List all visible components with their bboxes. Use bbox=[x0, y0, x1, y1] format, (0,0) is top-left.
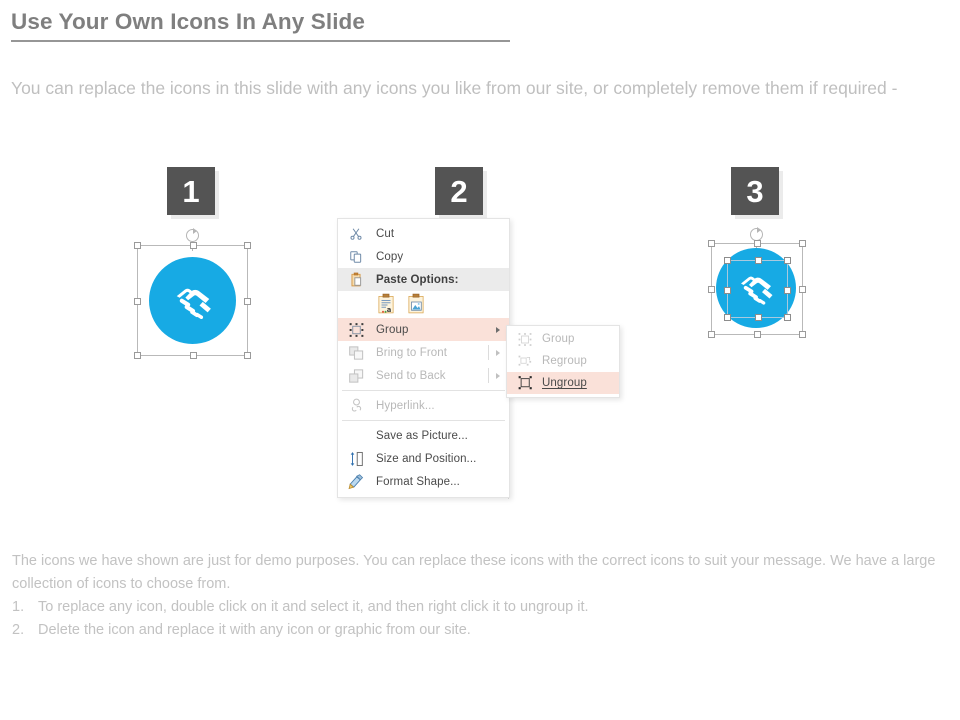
size-and-position-icon bbox=[346, 450, 366, 468]
menu-item-group[interactable]: Group bbox=[338, 318, 509, 341]
footer-text-block: The icons we have shown are just for dem… bbox=[12, 550, 947, 642]
ungroup-icon bbox=[515, 374, 535, 392]
menu-separator bbox=[342, 390, 505, 391]
menu-item-bring-to-front[interactable]: Bring to Front bbox=[338, 341, 509, 364]
step-badge-3: 3 bbox=[731, 167, 779, 215]
menu-divider-vertical bbox=[488, 345, 489, 360]
scissors-icon bbox=[346, 225, 366, 243]
regroup-icon bbox=[515, 352, 535, 370]
selection-handle-bottom-center[interactable] bbox=[754, 331, 761, 338]
step-badge-3-label: 3 bbox=[746, 176, 763, 207]
selection-handle-top-right[interactable] bbox=[799, 240, 806, 247]
selection-handle-middle-left[interactable] bbox=[708, 286, 715, 293]
menu-item-size-and-position-label: Size and Position... bbox=[376, 453, 476, 465]
menu-item-format-shape[interactable]: Format Shape... bbox=[338, 470, 509, 493]
chevron-right-icon bbox=[496, 373, 500, 379]
menu-item-paste-options: Paste Options: bbox=[338, 268, 509, 291]
hyperlink-icon bbox=[346, 397, 366, 415]
title-underline bbox=[11, 40, 510, 42]
selection-frame-icon-3-outer bbox=[711, 243, 803, 335]
footer-list-item-2-text: Delete the icon and replace it with any … bbox=[38, 619, 471, 642]
selection-handle-top-left[interactable] bbox=[134, 242, 141, 249]
copy-icon bbox=[346, 248, 366, 266]
page-title: Use Your Own Icons In Any Slide bbox=[11, 9, 365, 35]
submenu-item-group[interactable]: Group bbox=[507, 328, 619, 350]
submenu-item-group-label: Group bbox=[542, 333, 574, 345]
group-icon bbox=[515, 330, 535, 348]
selection-handle-top-center[interactable] bbox=[190, 242, 197, 249]
footer-list-item-1-number: 1. bbox=[12, 596, 38, 619]
selection-handle-top-left[interactable] bbox=[708, 240, 715, 247]
selection-handle-middle-left[interactable] bbox=[134, 298, 141, 305]
menu-item-save-as-picture[interactable]: Save as Picture... bbox=[338, 424, 509, 447]
slide-canvas: Use Your Own Icons In Any Slide You can … bbox=[0, 0, 960, 720]
rotation-handle-arrow-icon bbox=[193, 228, 197, 234]
step-badge-2: 2 bbox=[435, 167, 483, 215]
menu-item-copy[interactable]: Copy bbox=[338, 245, 509, 268]
submenu-item-ungroup[interactable]: Ungroup bbox=[507, 372, 619, 394]
selection-handle-bottom-left[interactable] bbox=[708, 331, 715, 338]
selection-handle-top-right[interactable] bbox=[244, 242, 251, 249]
step-badge-2-label: 2 bbox=[450, 176, 467, 207]
selection-handle-bottom-right[interactable] bbox=[799, 331, 806, 338]
menu-item-send-to-back-label: Send to Back bbox=[376, 370, 446, 382]
submenu-item-ungroup-label: Ungroup bbox=[542, 377, 587, 389]
chevron-right-icon bbox=[496, 350, 500, 356]
menu-item-cut-label: Cut bbox=[376, 228, 394, 240]
menu-item-group-label: Group bbox=[376, 324, 408, 336]
footer-list-item-1: 1. To replace any icon, double click on … bbox=[12, 596, 947, 619]
menu-item-hyperlink[interactable]: Hyperlink... bbox=[338, 394, 509, 417]
menu-item-copy-label: Copy bbox=[376, 251, 403, 263]
svg-text:a: a bbox=[387, 305, 392, 313]
step-badge-1-label: 1 bbox=[182, 176, 199, 207]
menu-item-paste-options-label: Paste Options: bbox=[376, 274, 459, 286]
paste-icon bbox=[346, 271, 366, 289]
footer-list-item-1-text: To replace any icon, double click on it … bbox=[38, 596, 589, 619]
format-shape-icon bbox=[346, 473, 366, 491]
selection-handle-bottom-right[interactable] bbox=[244, 352, 251, 359]
footer-list-item-2-number: 2. bbox=[12, 619, 38, 642]
slide-subtitle: You can replace the icons in this slide … bbox=[11, 73, 955, 103]
step-badge-1: 1 bbox=[167, 167, 215, 215]
selection-handle-bottom-left[interactable] bbox=[134, 352, 141, 359]
selection-handle-middle-right[interactable] bbox=[799, 286, 806, 293]
menu-item-format-shape-label: Format Shape... bbox=[376, 476, 460, 488]
send-to-back-icon bbox=[346, 367, 366, 385]
menu-item-bring-to-front-label: Bring to Front bbox=[376, 347, 447, 359]
menu-item-send-to-back[interactable]: Send to Back bbox=[338, 364, 509, 387]
submenu-item-regroup-label: Regroup bbox=[542, 355, 587, 367]
submenu-item-regroup[interactable]: Regroup bbox=[507, 350, 619, 372]
paste-options-row[interactable]: a bbox=[338, 291, 509, 318]
paste-picture-icon[interactable] bbox=[406, 293, 426, 317]
menu-item-cut[interactable]: Cut bbox=[338, 222, 509, 245]
menu-divider-vertical bbox=[488, 368, 489, 383]
menu-item-save-as-picture-label: Save as Picture... bbox=[376, 430, 468, 442]
group-submenu[interactable]: Group Regroup bbox=[506, 325, 620, 398]
menu-item-size-and-position[interactable]: Size and Position... bbox=[338, 447, 509, 470]
selection-frame-icon-1 bbox=[137, 245, 248, 356]
footer-paragraph: The icons we have shown are just for dem… bbox=[12, 550, 947, 596]
selection-handle-top-center[interactable] bbox=[754, 240, 761, 247]
rotation-handle-arrow-icon bbox=[757, 227, 761, 233]
bring-to-front-icon bbox=[346, 344, 366, 362]
selection-handle-bottom-center[interactable] bbox=[190, 352, 197, 359]
menu-item-hyperlink-label: Hyperlink... bbox=[376, 400, 435, 412]
menu-separator bbox=[342, 420, 505, 421]
footer-list-item-2: 2. Delete the icon and replace it with a… bbox=[12, 619, 947, 642]
paste-keep-text-only-icon[interactable]: a bbox=[376, 293, 396, 317]
context-menu[interactable]: Cut Copy Paste Options: bbox=[337, 218, 510, 498]
group-icon bbox=[346, 321, 366, 339]
chevron-right-icon bbox=[496, 327, 500, 333]
selection-handle-middle-right[interactable] bbox=[244, 298, 251, 305]
